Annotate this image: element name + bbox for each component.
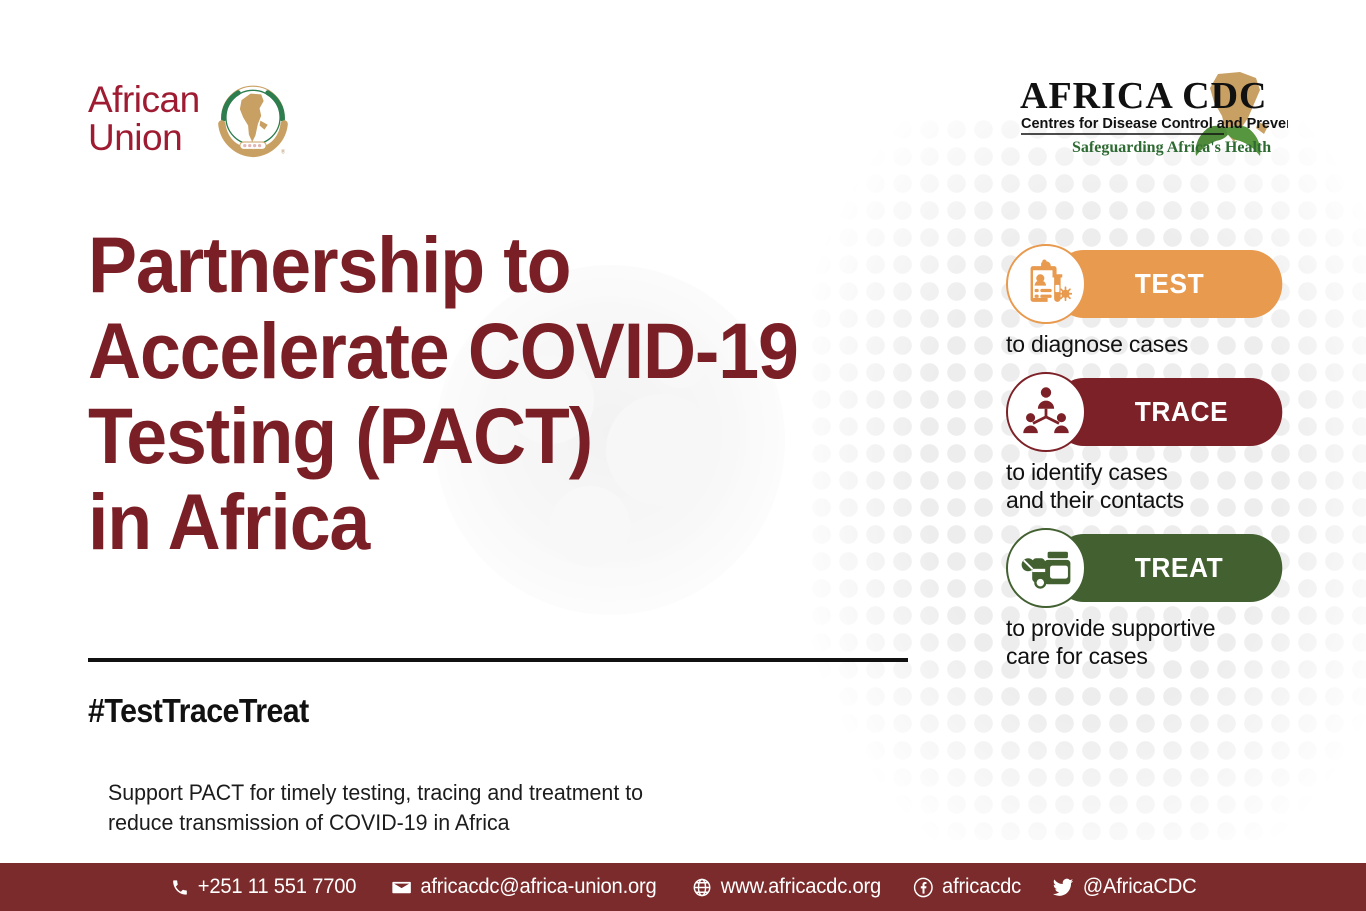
footer-twitter[interactable]: @AfricaCDC bbox=[1052, 875, 1196, 899]
support-copy: Support PACT for timely testing, tracing… bbox=[108, 778, 792, 838]
poster-canvas: African Union ® bbox=[0, 0, 1366, 911]
campaign-hashtag: #TestTraceTreat bbox=[88, 692, 309, 730]
footer-website-text: www.africacdc.org bbox=[720, 875, 880, 899]
pillar-test-badge: TEST bbox=[1006, 244, 1306, 324]
pillar-trace: TRACE bbox=[1006, 372, 1306, 514]
african-union-wordmark: African Union bbox=[88, 81, 200, 158]
african-union-logo: African Union ® bbox=[88, 78, 294, 160]
africa-cdc-logo: AFRICA CDC Centres for Disease Control a… bbox=[1012, 68, 1288, 164]
headline-block: Partnership to Accelerate COVID-19 Testi… bbox=[88, 222, 968, 565]
pillar-treat-badge: TREAT bbox=[1006, 528, 1306, 608]
footer-facebook[interactable]: africacdc bbox=[913, 875, 1021, 899]
medicine-pills-icon bbox=[1006, 528, 1086, 608]
pillar-test-caption: to diagnose cases bbox=[1006, 330, 1306, 358]
contact-network-icon bbox=[1006, 372, 1086, 452]
african-union-line1: African bbox=[88, 81, 200, 119]
svg-text:Centres for Disease Control an: Centres for Disease Control and Preventi… bbox=[1021, 116, 1288, 132]
african-union-line2: Union bbox=[88, 119, 200, 157]
pillar-trace-label: TRACE bbox=[1052, 378, 1282, 446]
headline-divider bbox=[88, 658, 908, 662]
footer-twitter-text: @AfricaCDC bbox=[1083, 875, 1197, 899]
twitter-icon bbox=[1052, 876, 1074, 899]
footer-email[interactable]: africacdc@africa-union.org bbox=[391, 875, 656, 899]
footer-facebook-text: africacdc bbox=[942, 875, 1021, 899]
page-title: Partnership to Accelerate COVID-19 Testi… bbox=[88, 222, 906, 565]
clipboard-test-tube-icon bbox=[1006, 244, 1086, 324]
globe-icon bbox=[692, 877, 712, 898]
pillar-treat: TREAT bbox=[1006, 528, 1306, 670]
phone-icon bbox=[170, 878, 188, 897]
svg-text:®: ® bbox=[281, 148, 286, 155]
facebook-icon bbox=[913, 877, 933, 898]
pillar-treat-label: TREAT bbox=[1052, 534, 1282, 602]
pillar-trace-badge: TRACE bbox=[1006, 372, 1306, 452]
african-union-emblem: ® bbox=[212, 78, 294, 160]
footer-phone-text: +251 11 551 7700 bbox=[197, 875, 356, 899]
footer-website[interactable]: www.africacdc.org bbox=[692, 875, 881, 899]
footer-phone[interactable]: +251 11 551 7700 bbox=[170, 875, 355, 899]
pillar-treat-caption: to provide supportive care for cases bbox=[1006, 614, 1306, 670]
svg-text:AFRICA CDC: AFRICA CDC bbox=[1020, 75, 1268, 117]
pillar-list: TEST bbox=[1006, 244, 1306, 684]
footer-contact-bar: +251 11 551 7700 africacdc@africa-union.… bbox=[0, 863, 1366, 911]
pillar-test: TEST bbox=[1006, 244, 1306, 358]
envelope-icon bbox=[391, 877, 411, 898]
svg-text:Safeguarding Africa's Health: Safeguarding Africa's Health bbox=[1072, 139, 1271, 156]
pillar-test-label: TEST bbox=[1052, 250, 1282, 318]
footer-email-text: africacdc@africa-union.org bbox=[420, 875, 656, 899]
pillar-trace-caption: to identify cases and their contacts bbox=[1006, 458, 1306, 514]
